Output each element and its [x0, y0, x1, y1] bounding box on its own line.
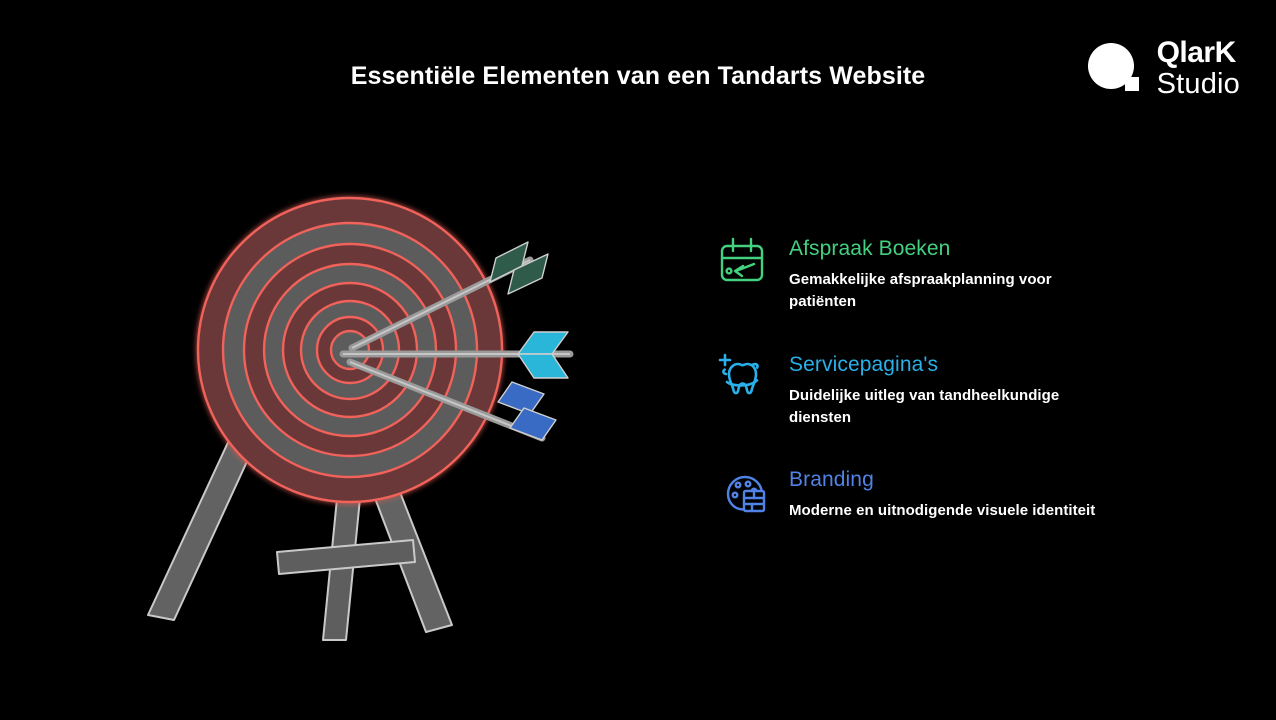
feature-item-afspraak-boeken[interactable]: Afspraak Boeken Gemakkelijke afspraakpla… — [712, 232, 1212, 314]
circle-square-logo-mark-icon — [1088, 41, 1144, 97]
brand-wordmark: QlarK Studio — [1157, 38, 1240, 99]
logo-square-shape — [1125, 77, 1139, 91]
feature-item-servicepaginas[interactable]: Servicepagina's Duidelijke uitleg van ta… — [712, 348, 1212, 430]
feature-list: Afspraak Boeken Gemakkelijke afspraakpla… — [712, 232, 1212, 557]
feature-description: Moderne en uitnodigende visuele identite… — [789, 500, 1119, 522]
feature-title: Branding — [789, 468, 1212, 492]
feature-item-branding[interactable]: Branding Moderne en uitnodigende visuele… — [712, 463, 1212, 523]
archery-target-illustration — [130, 170, 630, 670]
page-title: Essentiële Elementen van een Tandarts We… — [0, 62, 1276, 91]
feature-description: Gemakkelijke afspraakplanning voor patië… — [789, 269, 1119, 313]
feature-text-block: Servicepagina's Duidelijke uitleg van ta… — [789, 348, 1212, 430]
feature-text-block: Branding Moderne en uitnodigende visuele… — [789, 463, 1212, 522]
feature-title: Servicepagina's — [789, 353, 1212, 377]
brand-name: QlarK — [1157, 38, 1240, 68]
brand-subtitle: Studio — [1157, 70, 1240, 99]
feature-description: Duidelijke uitleg van tandheelkundige di… — [789, 385, 1119, 429]
palette-swatch-icon — [712, 463, 772, 523]
feature-title: Afspraak Boeken — [789, 237, 1212, 261]
tooth-sparkle-icon — [712, 348, 772, 408]
slide-root: Essentiële Elementen van een Tandarts We… — [0, 0, 1276, 720]
calendar-arrow-icon — [712, 232, 772, 292]
feature-text-block: Afspraak Boeken Gemakkelijke afspraakpla… — [789, 232, 1212, 314]
brand-logo: QlarK Studio — [1088, 38, 1240, 99]
